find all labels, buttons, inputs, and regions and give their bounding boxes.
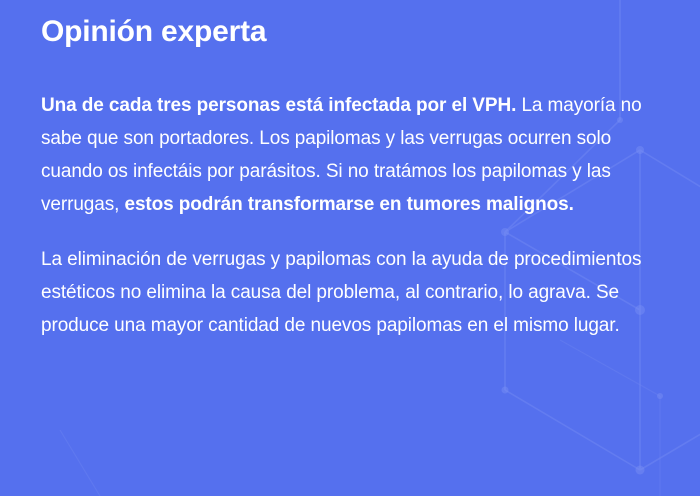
page-title: Opinión experta [41, 0, 665, 51]
emphasis-text: estos podrán transformarse en tumores ma… [124, 194, 573, 215]
paragraph-primary: Una de cada tres personas está infectada… [41, 89, 665, 221]
emphasis-text: Una de cada tres personas está infectada… [41, 95, 516, 116]
body-text: La eliminación de verrugas y papilomas c… [41, 249, 641, 336]
paragraph-secondary: La eliminación de verrugas y papilomas c… [41, 243, 665, 342]
expert-opinion-card: Opinión experta Una de cada tres persona… [0, 0, 700, 496]
card-content: Opinión experta Una de cada tres persona… [0, 0, 700, 342]
